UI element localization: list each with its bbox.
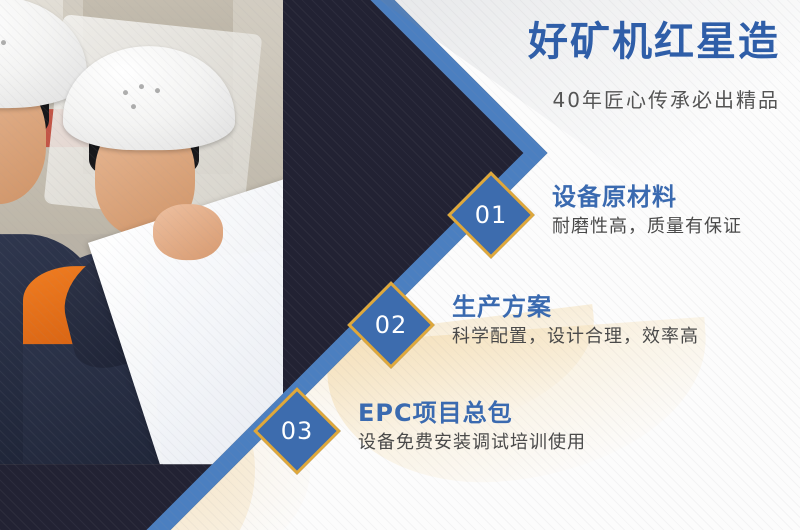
promo-banner: 好矿机红星造 40年匠心传承必出精品 01 设备原材料 耐磨性高，质量有保证 0… xyxy=(0,0,800,530)
feature-number-03: 03 xyxy=(266,400,328,462)
feature-description-01: 耐磨性高，质量有保证 xyxy=(552,215,742,239)
feature-description-02: 科学配置，设计合理，效率高 xyxy=(452,325,699,349)
page-subtitle: 40年匠心传承必出精品 xyxy=(553,84,780,113)
feature-number-01: 01 xyxy=(460,184,522,246)
feature-heading-01: 设备原材料 xyxy=(552,182,742,212)
feature-heading-03: EPC项目总包 xyxy=(358,398,586,428)
feature-number-02: 02 xyxy=(360,294,422,356)
feature-heading-02: 生产方案 xyxy=(452,292,699,322)
feature-description-03: 设备免费安装调试培训使用 xyxy=(358,431,586,455)
page-title: 好矿机红星造 xyxy=(528,22,780,62)
